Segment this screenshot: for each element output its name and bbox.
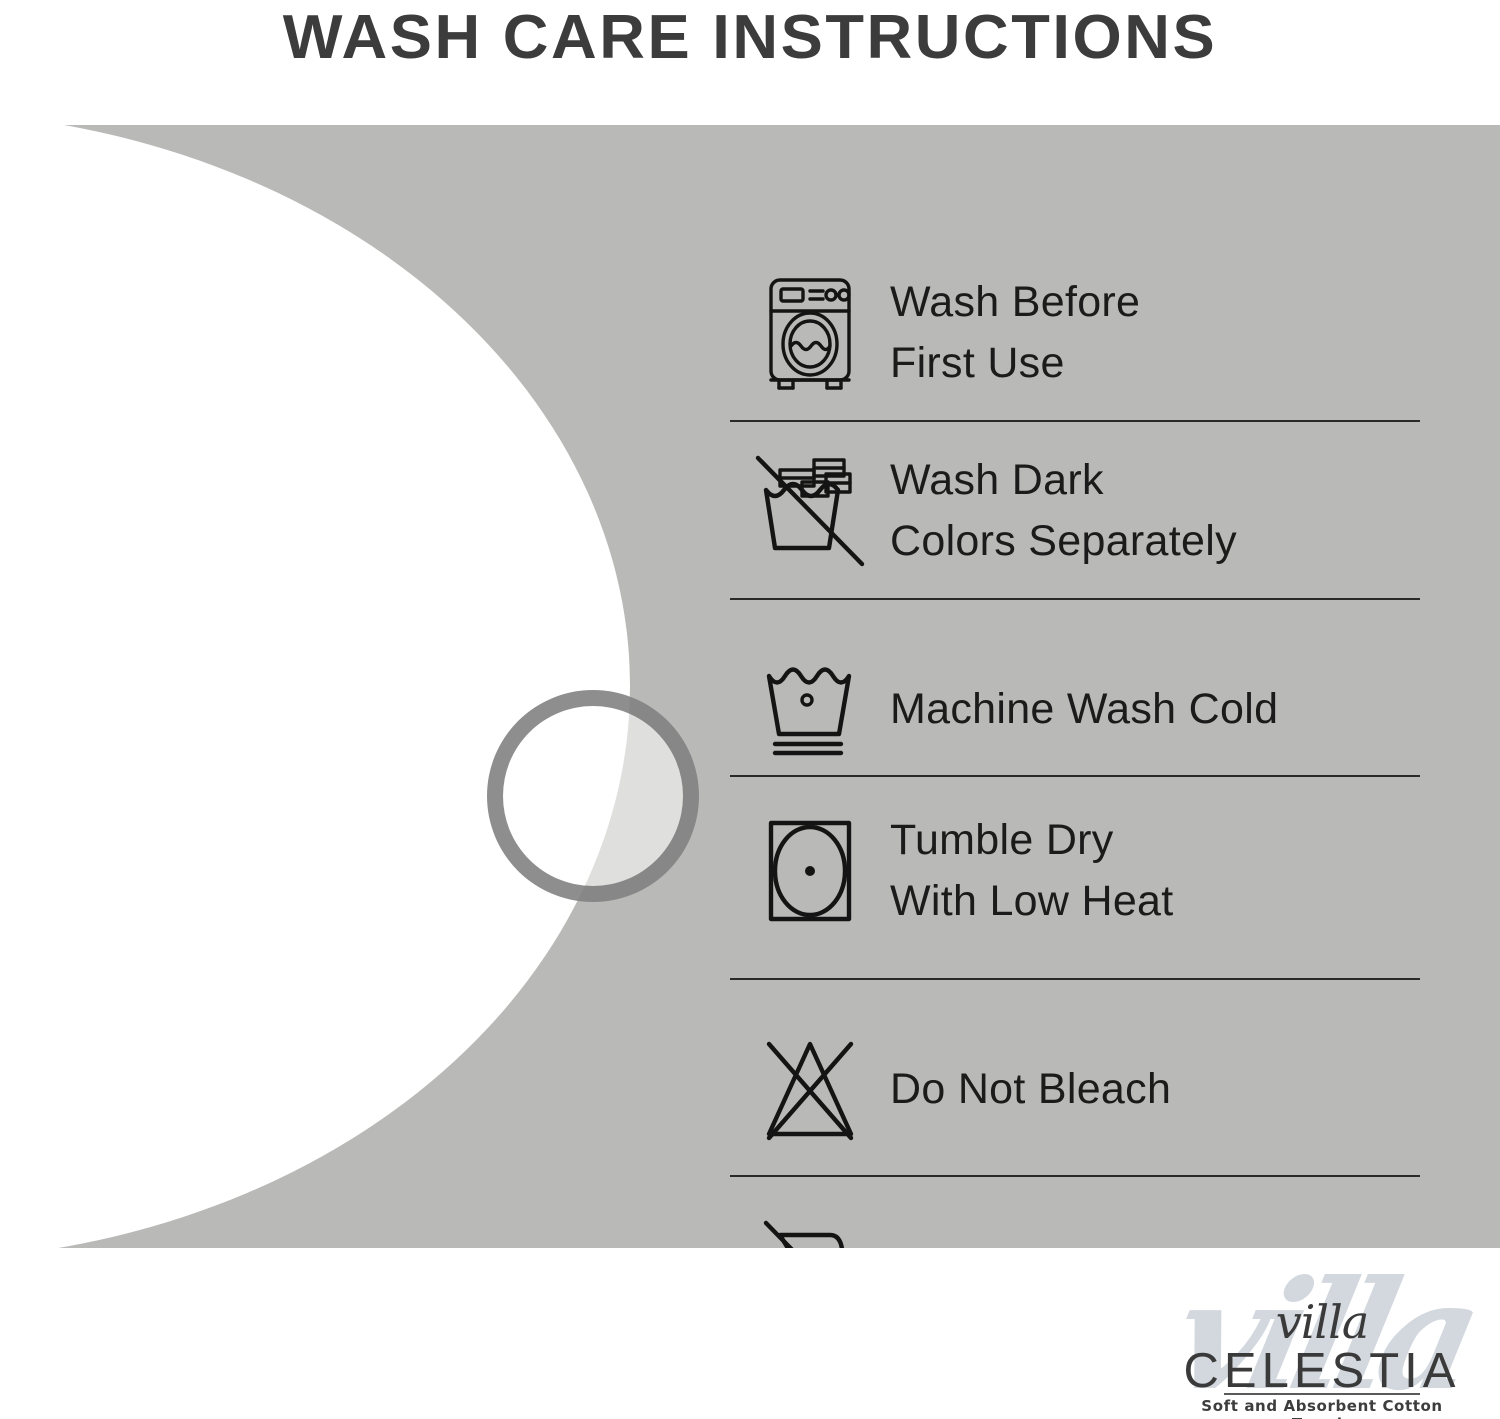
instruction-row: Wash Before First Use (730, 272, 1500, 394)
machine-wash-cold-icon (730, 650, 890, 770)
instruction-label: Machine Wash Cold (890, 679, 1278, 740)
page-title: WASH CARE INSTRUCTIONS (0, 2, 1500, 73)
instruction-row: Do Not Bleach (730, 1030, 1500, 1150)
do-not-iron-icon (730, 1205, 890, 1248)
magnifier-circle-overlay (487, 690, 699, 902)
instruction-row: Do Not Iron (730, 1205, 1500, 1248)
washing-machine-icon (730, 273, 890, 393)
brand-logo: villa villa CELESTIA Soft and Absorbent … (1172, 1267, 1472, 1417)
logo-tagline: Soft and Absorbent Cotton Towels (1172, 1397, 1472, 1419)
do-not-bleach-icon (730, 1030, 890, 1150)
instruction-label: Wash Before First Use (890, 272, 1140, 394)
tumble-dry-low-icon (730, 811, 890, 931)
row-divider (730, 775, 1420, 777)
instruction-label: Do Not Iron (890, 1234, 1113, 1248)
logo-script-text: villa (1172, 1295, 1472, 1349)
instruction-list: Wash Before First Use (730, 250, 1500, 1248)
instruction-row: Tumble Dry With Low Heat (730, 810, 1500, 932)
row-divider (730, 598, 1420, 600)
instruction-row: Wash Dark Colors Separately (730, 450, 1500, 572)
row-divider (730, 978, 1420, 980)
no-mixed-laundry-icon (730, 451, 890, 571)
instruction-label: Wash Dark Colors Separately (890, 450, 1237, 572)
logo-brand-name: CELESTIA (1172, 1343, 1472, 1399)
row-divider (730, 420, 1420, 422)
instruction-row: Machine Wash Cold (730, 650, 1500, 770)
row-divider (730, 1175, 1420, 1177)
instruction-label: Do Not Bleach (890, 1059, 1171, 1120)
wash-care-infographic: WASH CARE INSTRUCTIONS (0, 0, 1500, 1419)
instruction-label: Tumble Dry With Low Heat (890, 810, 1174, 932)
logo-divider (1224, 1393, 1420, 1395)
instructions-panel: Wash Before First Use (0, 125, 1500, 1248)
